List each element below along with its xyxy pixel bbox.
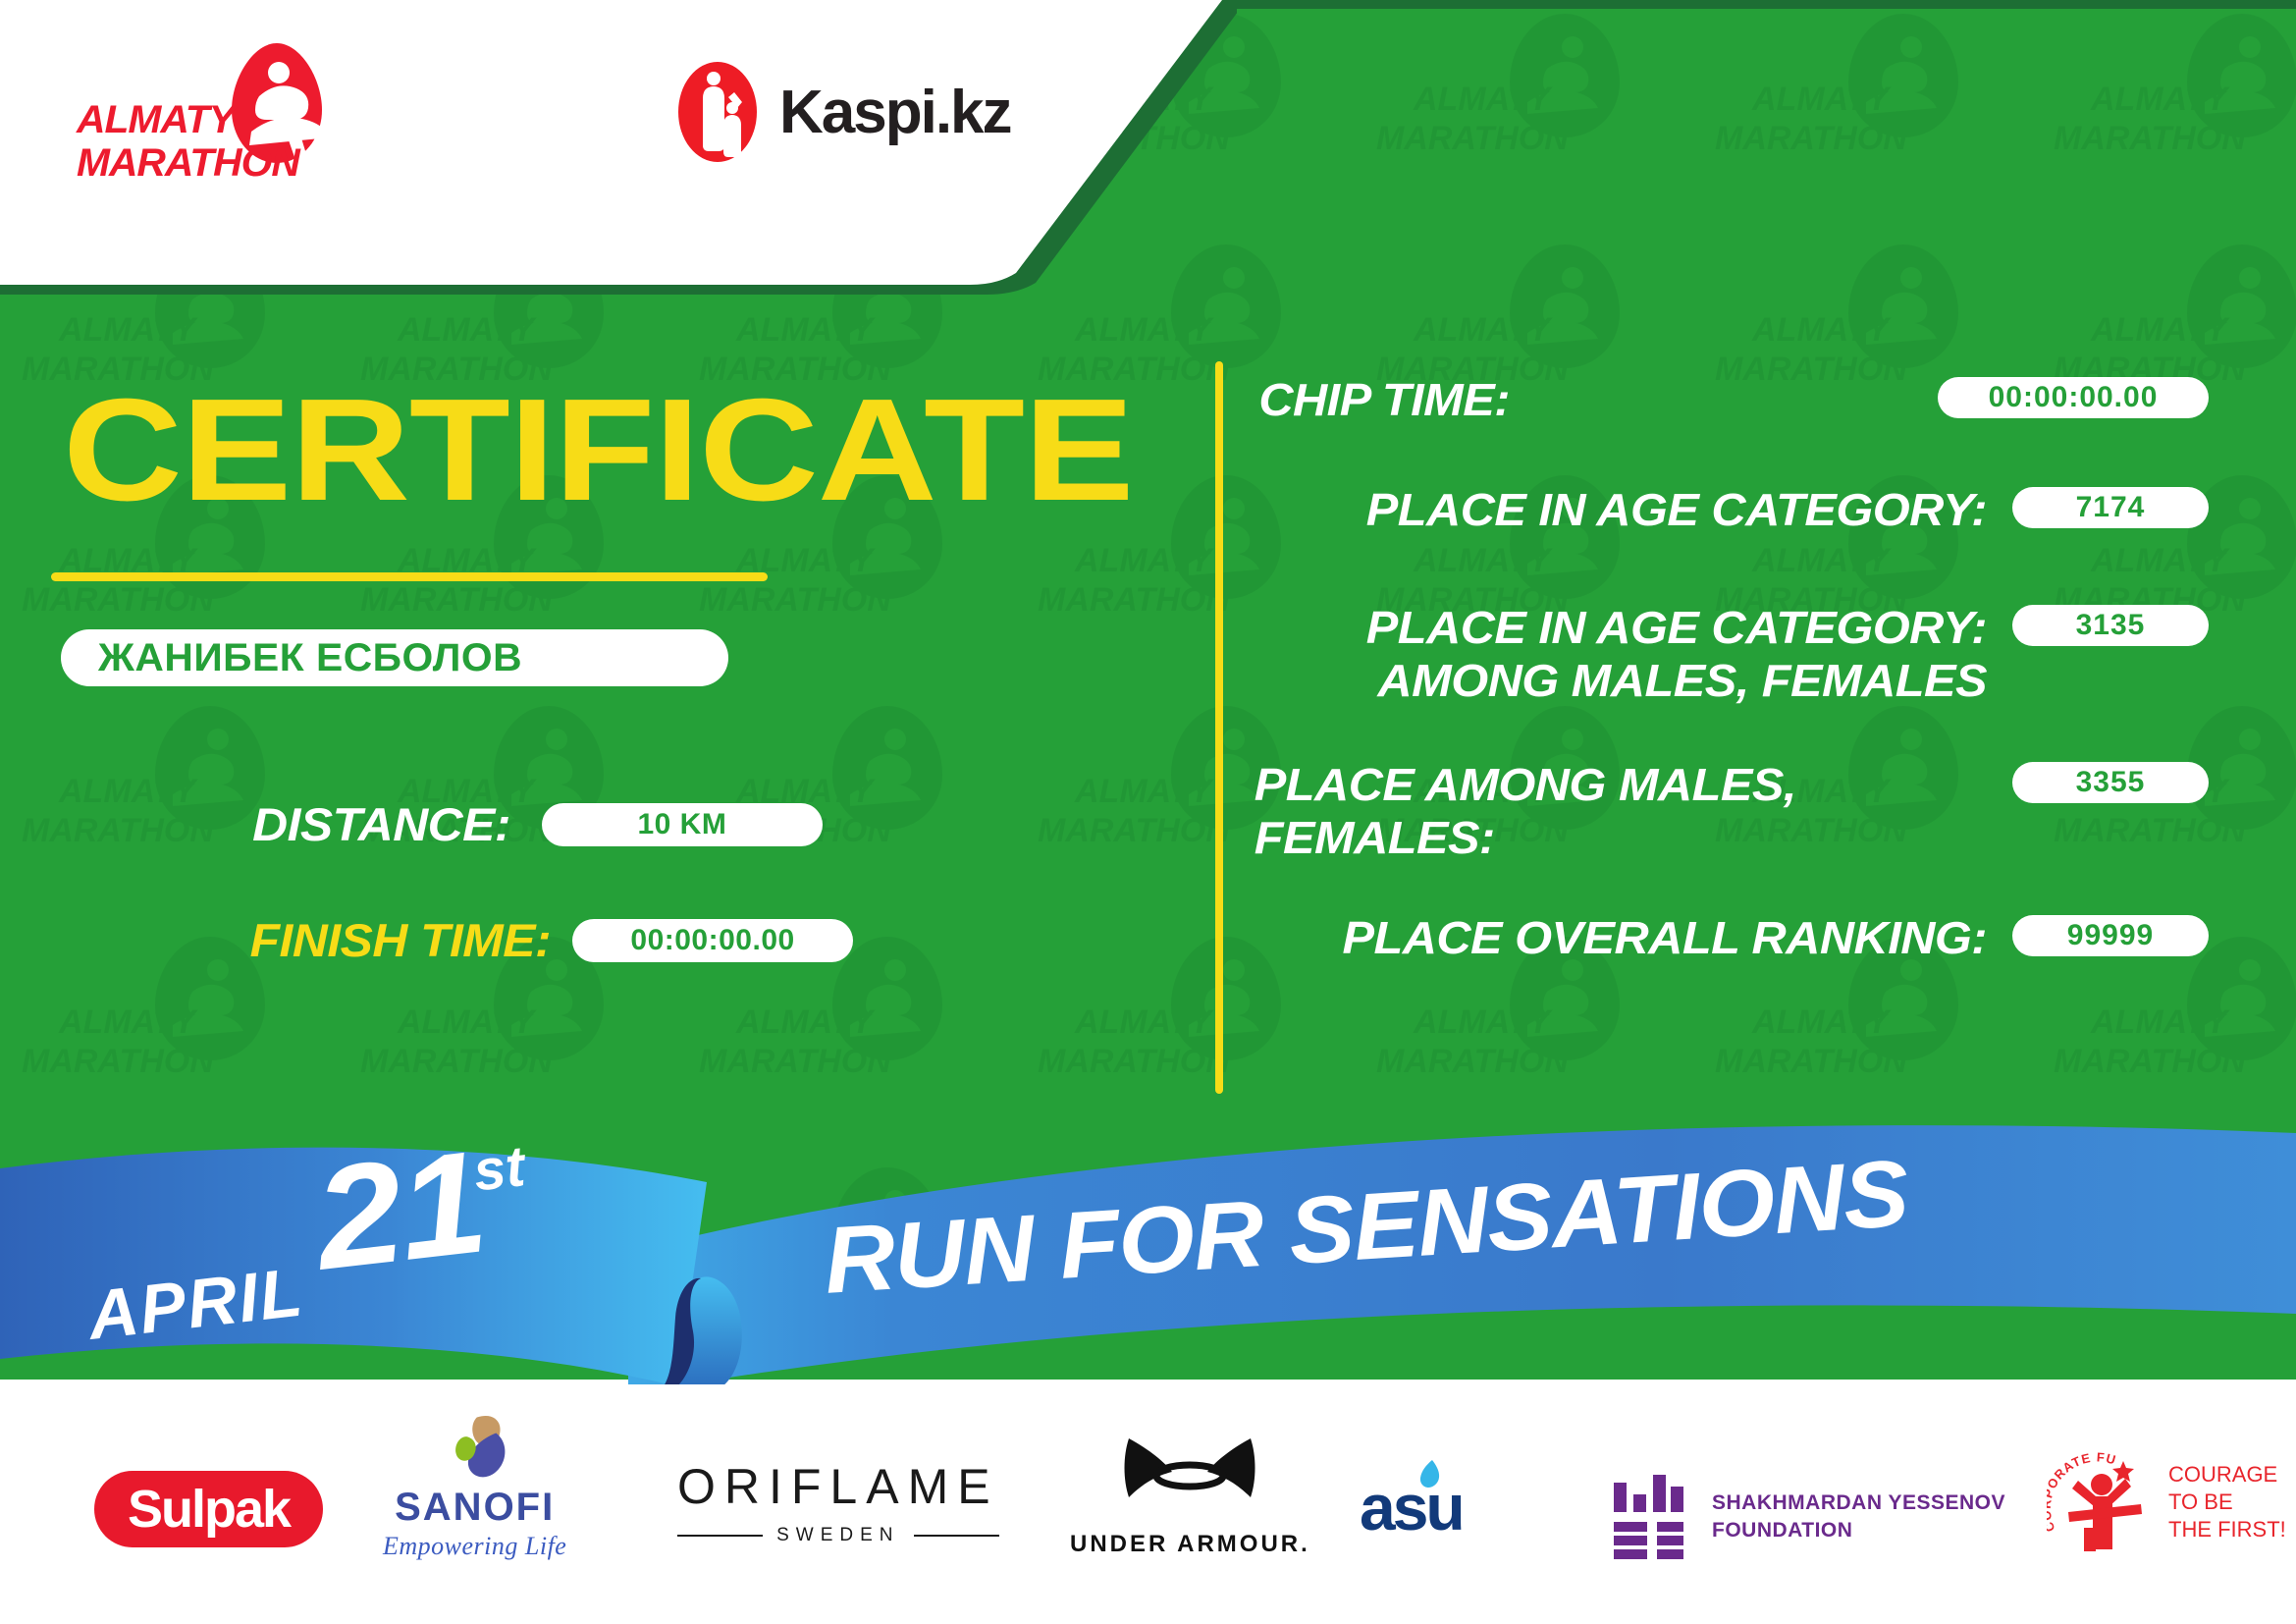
finish-time-label: FINISH TIME: <box>250 913 551 967</box>
sponsor-logo-asu: asu <box>1360 1434 1463 1581</box>
sponsor-logo-courage-fund: CORPORATE FUND COURAGE TO BE THE FIRST! <box>2047 1429 2286 1576</box>
distance-value: 10 KM <box>637 808 726 841</box>
under-armour-mark-icon <box>1121 1433 1258 1523</box>
chip-time-value-pill: 00:00:00.00 <box>1938 377 2209 418</box>
distance-value-pill: 10 KM <box>542 803 823 846</box>
yessenov-line1: SHAKHMARDAN YESSENOV <box>1712 1489 2005 1517</box>
courage-runner-icon: CORPORATE FUND <box>2047 1447 2155 1557</box>
ribbon-day: 21 <box>307 1118 492 1303</box>
place-age-category-value: 7174 <box>2076 491 2146 524</box>
courage-line3: THE FIRST! <box>2168 1516 2286 1543</box>
place-age-category-gender-value: 3135 <box>2076 609 2146 642</box>
yessenov-bars-icon <box>1610 1473 1686 1561</box>
stat-row-place-overall: PLACE OVERALL RANKING: 99999 <box>1296 911 2209 964</box>
almaty-marathon-logo: ALMATY MARATHON <box>77 41 361 159</box>
sanofi-wordmark: SANOFI <box>395 1486 555 1530</box>
courage-line1: COURAGE <box>2168 1461 2286 1489</box>
under-armour-wordmark: UNDER ARMOUR. <box>1070 1531 1310 1558</box>
participant-name-field: ЖАНИБЕК ЕСБОЛОВ <box>61 629 728 686</box>
place-age-category-label: PLACE IN AGE CATEGORY: <box>1255 483 1987 536</box>
ribbon-day-suffix: st <box>470 1133 528 1204</box>
oriflame-sub: SWEDEN <box>677 1525 999 1546</box>
certificate-page: ALMATY MARATHON ALMATY MARATHON <box>0 0 2296 1624</box>
place-overall-value-pill: 99999 <box>2012 915 2209 956</box>
sanofi-mark-icon <box>422 1414 528 1484</box>
kaspi-wordmark: Kaspi.kz <box>779 78 1011 147</box>
asu-droplet-icon <box>1415 1458 1444 1493</box>
stat-row-place-age-category-gender: PLACE IN AGE CATEGORY: AMONG MALES, FEMA… <box>1296 601 2209 707</box>
finish-time-value-pill: 00:00:00.00 <box>572 919 853 962</box>
asu-wordmark: asu <box>1360 1470 1463 1544</box>
chip-time-label: CHIP TIME: <box>1258 373 1912 426</box>
oriflame-tagline: SWEDEN <box>776 1525 899 1546</box>
distance-row: DISTANCE: 10 KM <box>267 797 823 851</box>
page-title: CERTIFICATE <box>63 378 1133 523</box>
sulpak-wordmark: Sulpak <box>128 1483 290 1536</box>
place-age-category-gender-label: PLACE IN AGE CATEGORY: AMONG MALES, FEMA… <box>1255 601 1987 707</box>
oriflame-wordmark: ORIFLAME <box>677 1458 999 1515</box>
almaty-logo-line2: MARATHON <box>77 143 299 183</box>
finish-time-value: 00:00:00.00 <box>630 924 794 957</box>
stat-row-place-age-category: PLACE IN AGE CATEGORY: 7174 <box>1296 483 2209 536</box>
place-among-gender-label: PLACE AMONG MALES, FEMALES: <box>1255 758 1987 864</box>
sponsor-logo-sanofi: SANOFI Empowering Life <box>383 1414 566 1561</box>
place-age-category-gender-value-pill: 3135 <box>2012 605 2209 646</box>
oriflame-rule-left <box>677 1535 763 1537</box>
place-among-gender-value: 3355 <box>2076 766 2146 799</box>
yessenov-line2: FOUNDATION <box>1712 1517 2005 1544</box>
almaty-logo-line1: ALMATY <box>77 100 235 139</box>
oriflame-rule-right <box>914 1535 999 1537</box>
place-among-gender-value-pill: 3355 <box>2012 762 2209 803</box>
distance-label: DISTANCE: <box>252 797 510 851</box>
sulpak-badge: Sulpak <box>94 1471 323 1547</box>
sponsor-logo-oriflame: ORIFLAME SWEDEN <box>677 1429 999 1576</box>
courage-line2: TO BE <box>2168 1489 2286 1516</box>
title-underline-rule <box>51 572 768 581</box>
participant-name-value: ЖАНИБЕК ЕСБОЛОВ <box>98 636 522 680</box>
place-overall-label: PLACE OVERALL RANKING: <box>1255 911 1987 964</box>
place-age-category-value-pill: 7174 <box>2012 487 2209 528</box>
place-overall-value: 99999 <box>2067 919 2154 952</box>
stats-column: CHIP TIME: 00:00:00.00 PLACE IN AGE CATE… <box>1296 373 2209 1009</box>
stat-row-chip-time: CHIP TIME: 00:00:00.00 <box>1296 373 2209 426</box>
stat-row-place-among-gender: PLACE AMONG MALES, FEMALES: 3355 <box>1296 758 2209 864</box>
sponsor-logo-under-armour: UNDER ARMOUR. <box>1070 1422 1310 1569</box>
kaspi-logo: Kaspi.kz <box>677 61 1011 163</box>
sponsor-logo-yessenov-foundation: SHAKHMARDAN YESSENOV FOUNDATION <box>1610 1443 2005 1591</box>
finish-time-row: FINISH TIME: 00:00:00.00 <box>267 913 853 967</box>
vertical-divider <box>1215 361 1223 1094</box>
kaspi-people-icon <box>677 61 758 163</box>
sanofi-tagline: Empowering Life <box>383 1532 566 1561</box>
chip-time-value: 00:00:00.00 <box>1989 381 2159 414</box>
sponsor-logo-sulpak: Sulpak <box>94 1435 323 1583</box>
